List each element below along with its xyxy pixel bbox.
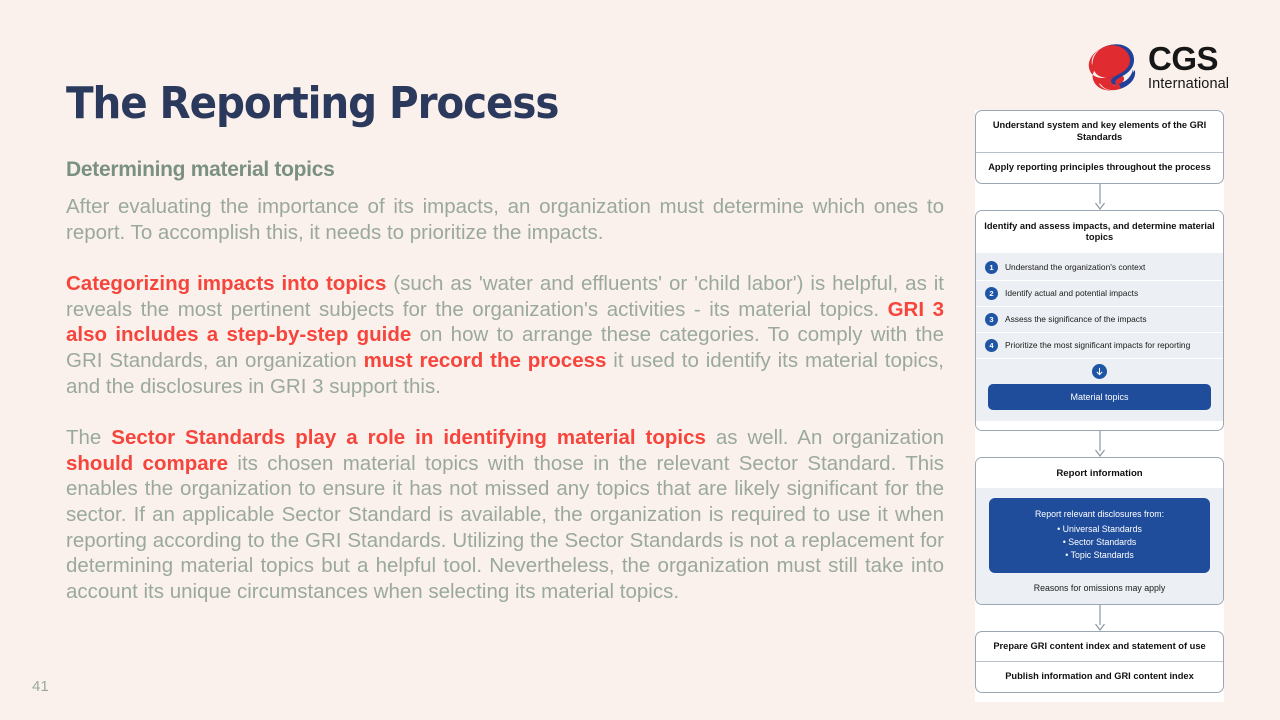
p3-text-0: The: [66, 426, 111, 449]
section1-row-understand: Understand system and key elements of th…: [976, 111, 1223, 152]
cgs-swirl-logo-icon: [1086, 40, 1140, 94]
section2-heading: Identify and assess impacts, and determi…: [976, 211, 1223, 253]
section1-row-apply: Apply reporting principles throughout th…: [976, 152, 1223, 183]
section3-body: Report relevant disclosures from: • Univ…: [976, 488, 1223, 573]
connector-arrow-3: [975, 605, 1224, 631]
connector-arrow-2: [975, 431, 1224, 457]
section-subtitle: Determining material topics: [66, 158, 334, 182]
diagram-section-4: Prepare GRI content index and statement …: [975, 631, 1224, 693]
step-label: Prioritize the most significant impacts …: [1005, 340, 1190, 350]
diagram-section-1: Understand system and key elements of th…: [975, 110, 1224, 184]
p3-text-1: as well. An organization: [706, 426, 944, 449]
paragraph-2: Categorizing impacts into topics (such a…: [66, 271, 944, 399]
list-item[interactable]: 4 Prioritize the most significant impact…: [976, 333, 1223, 359]
logo-wordmark: CGS International: [1148, 42, 1229, 92]
highlight-categorizing: Categorizing impacts into topics: [66, 272, 386, 295]
down-arrow-icon: [1094, 184, 1106, 210]
disclosure-panel: Report relevant disclosures from: • Univ…: [989, 498, 1210, 573]
omissions-footnote: Reasons for omissions may apply: [976, 573, 1223, 604]
step-label: Understand the organization's context: [1005, 262, 1145, 272]
list-item: • Universal Standards: [997, 523, 1202, 536]
logo-primary-text: CGS: [1148, 42, 1229, 75]
connector-arrow-1: [975, 184, 1224, 210]
section3-heading: Report information: [976, 458, 1223, 488]
step-number-badge: 3: [985, 313, 998, 326]
step-number-badge: 1: [985, 261, 998, 274]
list-item: • Topic Standards: [997, 549, 1202, 562]
list-item[interactable]: 3 Assess the significance of the impacts: [976, 307, 1223, 333]
list-item[interactable]: 2 Identify actual and potential impacts: [976, 281, 1223, 307]
highlight-should-compare: should compare: [66, 452, 228, 475]
highlight-sector-standards: Sector Standards play a role in identify…: [111, 426, 706, 449]
section4-row-prepare: Prepare GRI content index and statement …: [976, 632, 1223, 662]
page-title: The Reporting Process: [66, 78, 558, 129]
step-number-badge: 2: [985, 287, 998, 300]
paragraph-1: After evaluating the importance of its i…: [66, 194, 944, 245]
logo-secondary-text: International: [1148, 77, 1229, 92]
diagram-section-2: Identify and assess impacts, and determi…: [975, 210, 1224, 431]
down-arrow-icon: [1094, 605, 1106, 631]
section2-footer-space: [976, 421, 1223, 430]
step-number-badge: 4: [985, 339, 998, 352]
step-label: Assess the significance of the impacts: [1005, 314, 1147, 324]
diagram-section-3: Report information Report relevant discl…: [975, 457, 1224, 605]
list-item: • Sector Standards: [997, 536, 1202, 549]
gri-reporting-process-diagram: Understand system and key elements of th…: [975, 110, 1224, 702]
step-label: Identify actual and potential impacts: [1005, 288, 1138, 298]
disclosure-list: • Universal Standards • Sector Standards…: [997, 523, 1202, 562]
brand-logo: CGS International: [1086, 36, 1236, 98]
material-topics-button[interactable]: Material topics: [988, 384, 1211, 410]
list-item[interactable]: 1 Understand the organization's context: [976, 255, 1223, 281]
body-content: After evaluating the importance of its i…: [66, 194, 944, 604]
paragraph-3: The Sector Standards play a role in iden…: [66, 425, 944, 604]
page-number: 41: [32, 678, 49, 695]
circle-down-arrow-icon: [1092, 364, 1107, 379]
highlight-record-process: must record the process: [364, 349, 607, 372]
down-arrow-icon: [1094, 431, 1106, 457]
section2-step-list: 1 Understand the organization's context …: [976, 253, 1223, 359]
down-arrow-glyph: [1095, 367, 1104, 376]
disclosure-title: Report relevant disclosures from:: [997, 508, 1202, 521]
section4-row-publish: Publish information and GRI content inde…: [976, 661, 1223, 692]
material-topics-wrap: Material topics: [976, 383, 1223, 421]
section2-arrow-wrap: [976, 359, 1223, 383]
